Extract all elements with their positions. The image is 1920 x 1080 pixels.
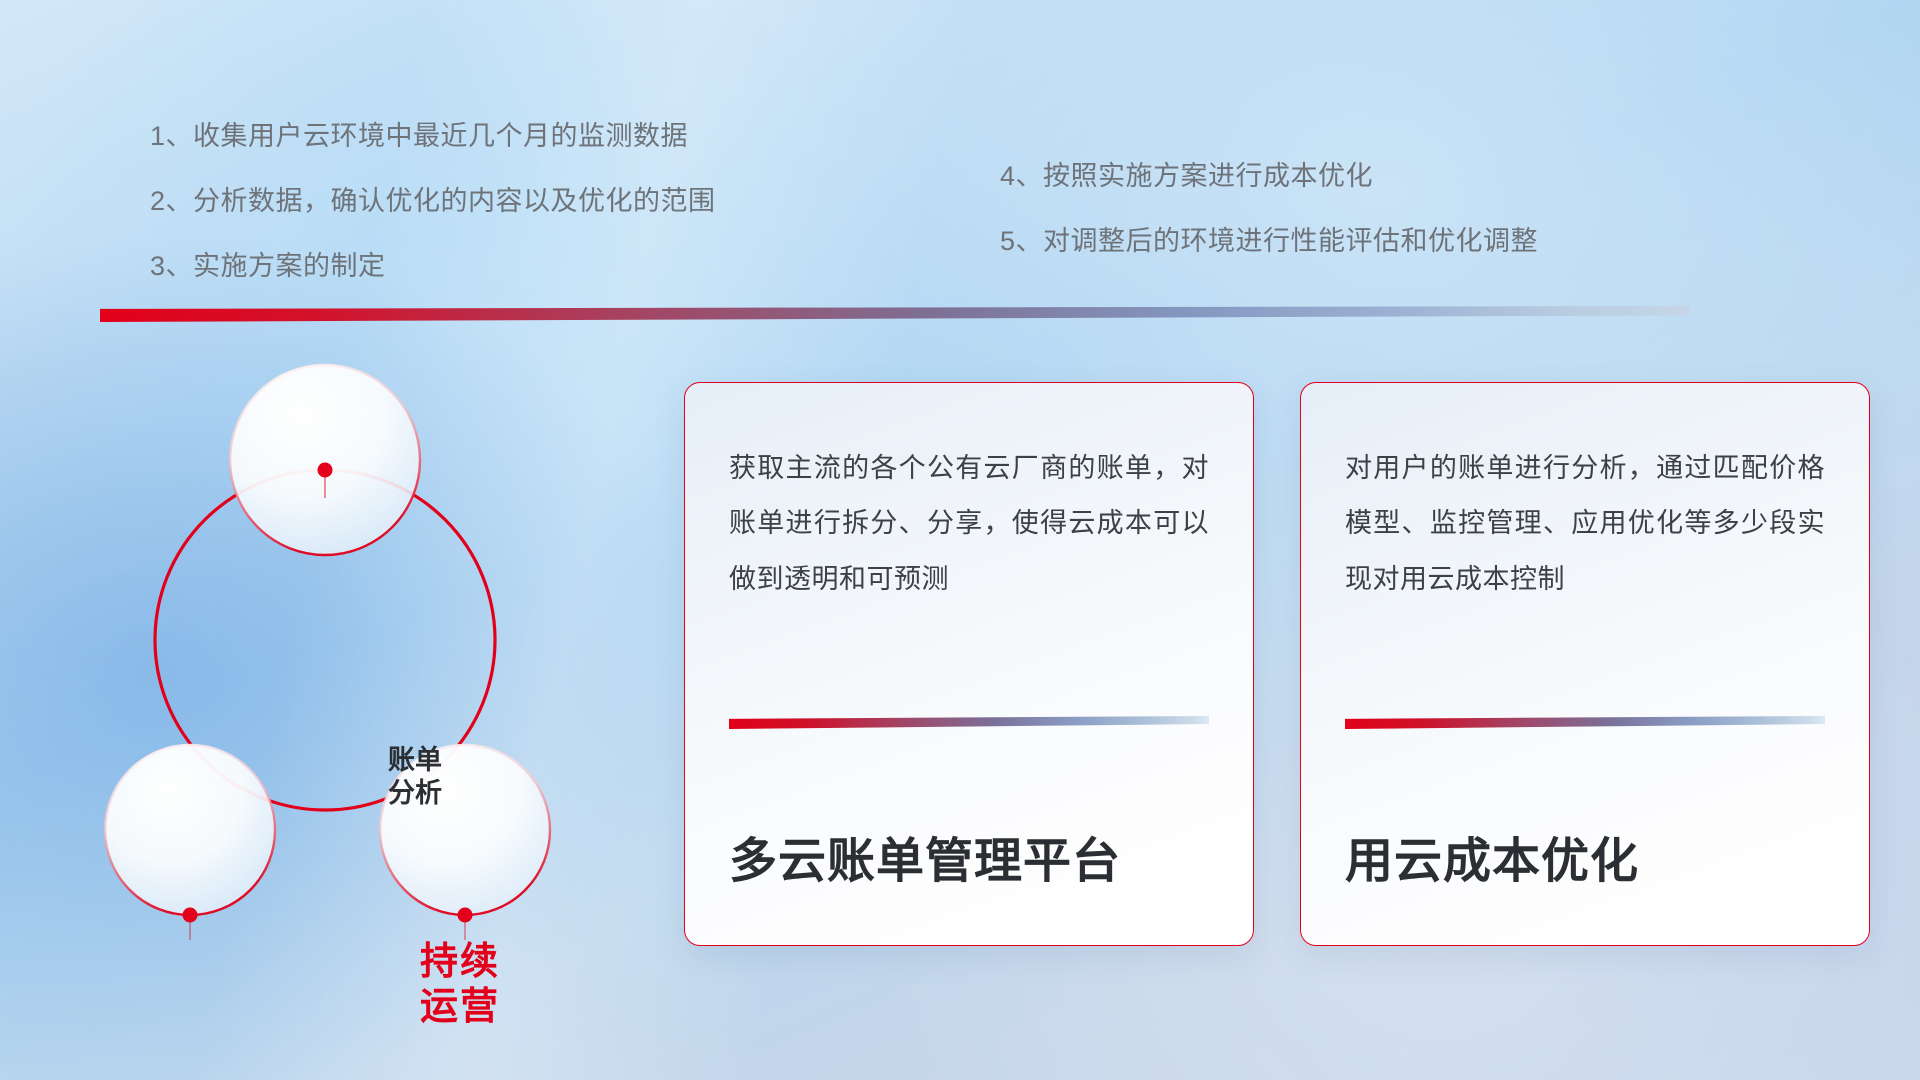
card-divider: [1345, 716, 1825, 729]
node-circle-optimization-strategy[interactable]: [380, 745, 550, 915]
card-body-text: 获取主流的各个公有云厂商的账单，对账单进行拆分、分享，使得云成本可以做到透明和可…: [729, 441, 1209, 607]
card-body-text: 对用户的账单进行分析，通过匹配价格模型、监控管理、应用优化等多少段实现对用云成本…: [1345, 441, 1825, 607]
bullet-item: 3、实施方案的制定: [150, 253, 716, 280]
bullet-item: 4、按照实施方案进行成本优化: [1000, 163, 1538, 190]
bullet-item: 2、分析数据，确认优化的内容以及优化的范围: [150, 188, 716, 215]
connector-dot-bottom-left: [183, 908, 198, 941]
bullet-item: 1、收集用户云环境中最近几个月的监测数据: [150, 123, 716, 150]
diagram-svg: [90, 340, 650, 940]
bullet-list-right: 4、按照实施方案进行成本优化 5、对调整后的环境进行性能评估和优化调整: [1000, 163, 1538, 293]
connector-dot-bottom-right: [458, 908, 473, 941]
divider-gradient-fill: [100, 306, 1690, 322]
card-title: 多云账单管理平台: [729, 821, 1121, 891]
bullet-item: 5、对调整后的环境进行性能评估和优化调整: [1000, 228, 1538, 255]
node-circle-operations[interactable]: [105, 745, 275, 915]
card-divider-gradient-fill: [1345, 716, 1825, 729]
card-divider-gradient-fill: [729, 716, 1209, 729]
diagram-center-label: 持续 运营: [370, 940, 550, 1030]
section-divider: [100, 306, 1690, 322]
slide-canvas: 1、收集用户云环境中最近几个月的监测数据 2、分析数据，确认优化的内容以及优化的…: [0, 0, 1920, 1080]
card-title: 用云成本优化: [1345, 821, 1639, 891]
continuous-operations-diagram: 账单 分析 操作 运营 优化 策略 持续 运营: [90, 340, 650, 940]
bullet-list-left: 1、收集用户云环境中最近几个月的监测数据 2、分析数据，确认优化的内容以及优化的…: [150, 123, 716, 318]
card-divider: [729, 716, 1209, 729]
info-card-cloud-cost-optimization[interactable]: 对用户的账单进行分析，通过匹配价格模型、监控管理、应用优化等多少段实现对用云成本…: [1300, 382, 1870, 946]
node-circle-billing-analysis[interactable]: [230, 365, 420, 555]
info-card-multi-cloud-billing-platform[interactable]: 获取主流的各个公有云厂商的账单，对账单进行拆分、分享，使得云成本可以做到透明和可…: [684, 382, 1254, 946]
